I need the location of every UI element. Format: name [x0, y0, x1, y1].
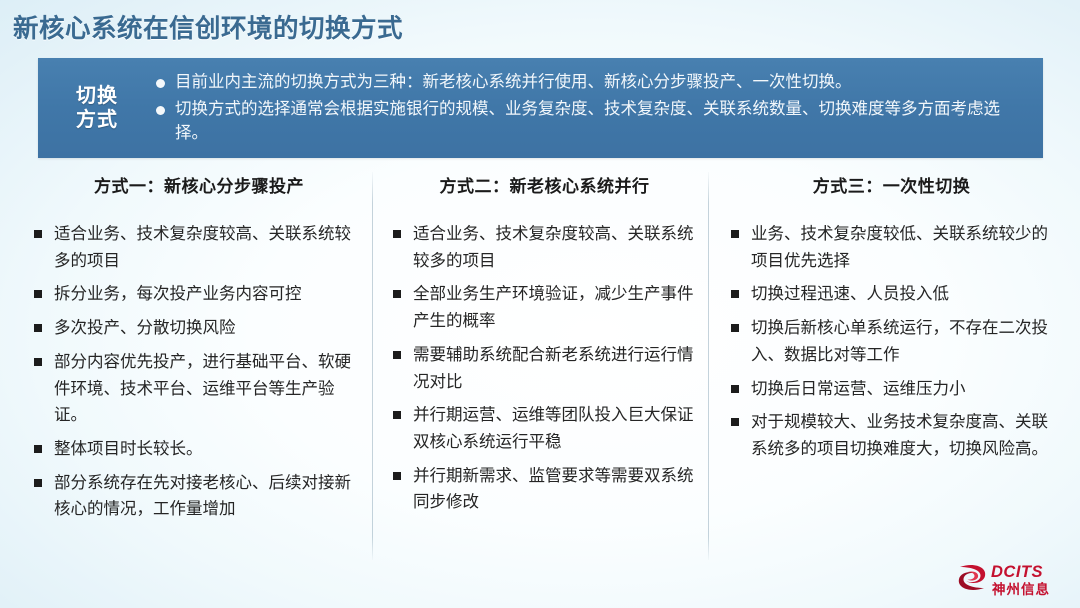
square-bullet-icon: [34, 230, 42, 238]
square-bullet-icon: [393, 290, 401, 298]
list-item-text: 业务、技术复杂度较低、关联系统较少的项目优先选择: [751, 221, 1052, 274]
dcits-swirl-icon: [959, 565, 985, 590]
column-heading: 方式三：一次性切换: [731, 172, 1052, 197]
banner-list-item: 切换方式的选择通常会根据实施银行的规模、业务复杂度、技术复杂度、关联系统数量、切…: [156, 97, 1015, 147]
logo-latin-text: DCITS: [991, 563, 1043, 581]
round-bullet-icon: [156, 106, 165, 115]
list-item-text: 部分内容优先投产，进行基础平台、软硬件环境、技术平台、运维平台等生产验证。: [54, 349, 358, 429]
list-item: 拆分业务，每次投产业务内容可控: [34, 281, 358, 308]
summary-banner: 切换 方式 目前业内主流的切换方式为三种：新老核心系统并行使用、新核心分步骤投产…: [38, 58, 1043, 158]
banner-label: 切换 方式: [38, 58, 156, 158]
banner-label-line2: 方式: [76, 108, 118, 132]
list-item-text: 并行期新需求、监管要求等需要双系统同步修改: [413, 463, 696, 516]
banner-item-text: 目前业内主流的切换方式为三种：新老核心系统并行使用、新核心分步骤投产、一次性切换…: [175, 70, 1015, 95]
dcits-logo: DCITS 神州信息: [954, 558, 1066, 602]
list-item-text: 切换后新核心单系统运行，不存在二次投入、数据比对等工作: [751, 315, 1052, 368]
column-heading: 方式一：新核心分步骤投产: [34, 172, 358, 197]
column-method-one: 方式一：新核心分步骤投产 适合业务、技术复杂度较高、关联系统较多的项目 拆分业务…: [20, 172, 372, 560]
square-bullet-icon: [34, 290, 42, 298]
square-bullet-icon: [34, 479, 42, 487]
list-item-text: 整体项目时长较长。: [54, 436, 358, 463]
list-item: 并行期运营、运维等团队投入巨大保证双核心系统运行平稳: [393, 402, 696, 455]
list-item: 适合业务、技术复杂度较高、关联系统较多的项目: [34, 221, 358, 274]
round-bullet-icon: [156, 79, 165, 88]
banner-item-text: 切换方式的选择通常会根据实施银行的规模、业务复杂度、技术复杂度、关联系统数量、切…: [175, 97, 1015, 147]
list-item: 切换后新核心单系统运行，不存在二次投入、数据比对等工作: [731, 315, 1052, 368]
comparison-columns: 方式一：新核心分步骤投产 适合业务、技术复杂度较高、关联系统较多的项目 拆分业务…: [20, 172, 1060, 560]
square-bullet-icon: [393, 351, 401, 359]
square-bullet-icon: [731, 418, 739, 426]
list-item: 部分内容优先投产，进行基础平台、软硬件环境、技术平台、运维平台等生产验证。: [34, 349, 358, 429]
page-title: 新核心系统在信创环境的切换方式: [13, 8, 403, 45]
list-item-text: 适合业务、技术复杂度较高、关联系统较多的项目: [54, 221, 358, 274]
list-item: 整体项目时长较长。: [34, 436, 358, 463]
list-item: 多次投产、分散切换风险: [34, 315, 358, 342]
column-bullet-list: 业务、技术复杂度较低、关联系统较少的项目优先选择 切换过程迅速、人员投入低 切换…: [731, 221, 1052, 463]
square-bullet-icon: [731, 230, 739, 238]
slide-root: 新核心系统在信创环境的切换方式 切换 方式 目前业内主流的切换方式为三种：新老核…: [0, 0, 1080, 608]
list-item: 并行期新需求、监管要求等需要双系统同步修改: [393, 463, 696, 516]
list-item: 切换过程迅速、人员投入低: [731, 281, 1052, 308]
column-method-two: 方式二：新老核心系统并行 适合业务、技术复杂度较高、关联系统较多的项目 全部业务…: [373, 172, 708, 560]
list-item: 切换后日常运营、运维压力小: [731, 376, 1052, 403]
square-bullet-icon: [393, 472, 401, 480]
square-bullet-icon: [34, 324, 42, 332]
list-item-text: 对于规模较大、业务技术复杂度高、关联系统多的项目切换难度大，切换风险高。: [751, 409, 1052, 462]
list-item-text: 切换后日常运营、运维压力小: [751, 376, 1052, 403]
square-bullet-icon: [731, 324, 739, 332]
list-item-text: 多次投产、分散切换风险: [54, 315, 358, 342]
banner-label-line1: 切换: [76, 84, 118, 108]
list-item: 全部业务生产环境验证，减少生产事件产生的概率: [393, 281, 696, 334]
column-heading: 方式二：新老核心系统并行: [393, 172, 696, 197]
banner-bullet-list: 目前业内主流的切换方式为三种：新老核心系统并行使用、新核心分步骤投产、一次性切换…: [156, 58, 1043, 158]
square-bullet-icon: [731, 385, 739, 393]
list-item-text: 并行期运营、运维等团队投入巨大保证双核心系统运行平稳: [413, 402, 696, 455]
list-item-text: 部分系统存在先对接老核心、后续对接新核心的情况，工作量增加: [54, 470, 358, 523]
logo-cn-text: 神州信息: [992, 581, 1050, 597]
list-item-text: 需要辅助系统配合新老系统进行运行情况对比: [413, 342, 696, 395]
column-method-three: 方式三：一次性切换 业务、技术复杂度较低、关联系统较少的项目优先选择 切换过程迅…: [709, 172, 1062, 560]
square-bullet-icon: [34, 445, 42, 453]
square-bullet-icon: [731, 290, 739, 298]
column-bullet-list: 适合业务、技术复杂度较高、关联系统较多的项目 拆分业务，每次投产业务内容可控 多…: [34, 221, 358, 523]
square-bullet-icon: [34, 358, 42, 366]
list-item-text: 全部业务生产环境验证，减少生产事件产生的概率: [413, 281, 696, 334]
list-item: 对于规模较大、业务技术复杂度高、关联系统多的项目切换难度大，切换风险高。: [731, 409, 1052, 462]
column-bullet-list: 适合业务、技术复杂度较高、关联系统较多的项目 全部业务生产环境验证，减少生产事件…: [393, 221, 696, 516]
list-item: 需要辅助系统配合新老系统进行运行情况对比: [393, 342, 696, 395]
list-item-text: 切换过程迅速、人员投入低: [751, 281, 1052, 308]
banner-list-item: 目前业内主流的切换方式为三种：新老核心系统并行使用、新核心分步骤投产、一次性切换…: [156, 70, 1015, 95]
list-item: 部分系统存在先对接老核心、后续对接新核心的情况，工作量增加: [34, 470, 358, 523]
list-item-text: 适合业务、技术复杂度较高、关联系统较多的项目: [413, 221, 696, 274]
list-item-text: 拆分业务，每次投产业务内容可控: [54, 281, 358, 308]
square-bullet-icon: [393, 230, 401, 238]
list-item: 适合业务、技术复杂度较高、关联系统较多的项目: [393, 221, 696, 274]
square-bullet-icon: [393, 411, 401, 419]
list-item: 业务、技术复杂度较低、关联系统较少的项目优先选择: [731, 221, 1052, 274]
